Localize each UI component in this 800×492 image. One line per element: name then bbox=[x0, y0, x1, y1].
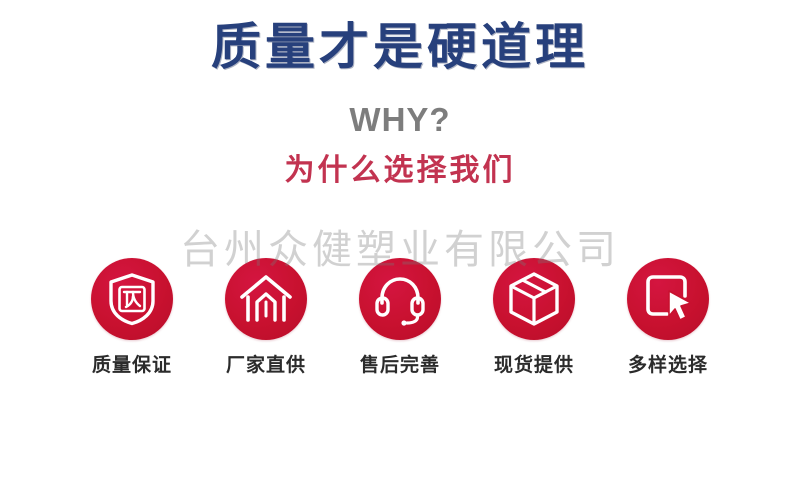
feature-badge bbox=[225, 258, 307, 340]
feature-badge bbox=[627, 258, 709, 340]
feature-label: 现货提供 bbox=[494, 354, 574, 378]
shield-quality-icon bbox=[106, 272, 158, 326]
feature-list: 质量保证 厂家直供 bbox=[0, 258, 800, 378]
feature-badge bbox=[359, 258, 441, 340]
subtitle-chinese: 为什么选择我们 bbox=[0, 152, 800, 190]
feature-label: 多样选择 bbox=[628, 354, 708, 378]
subtitle-english: WHY? bbox=[0, 100, 800, 140]
feature-label: 售后完善 bbox=[360, 354, 440, 378]
feature-badge bbox=[493, 258, 575, 340]
feature-item-quality[interactable]: 质量保证 bbox=[65, 258, 199, 378]
feature-item-stock[interactable]: 现货提供 bbox=[467, 258, 601, 378]
feature-item-aftersales[interactable]: 售后完善 bbox=[333, 258, 467, 378]
feature-badge bbox=[91, 258, 173, 340]
factory-house-icon bbox=[239, 273, 293, 325]
promo-banner: 质量才是硬道理 WHY? 为什么选择我们 台州众健塑业有限公司 质量保证 bbox=[0, 0, 800, 492]
headset-icon bbox=[373, 272, 427, 326]
feature-label: 厂家直供 bbox=[226, 354, 306, 378]
feature-item-factory[interactable]: 厂家直供 bbox=[199, 258, 333, 378]
package-box-icon bbox=[507, 271, 561, 327]
feature-item-variety[interactable]: 多样选择 bbox=[601, 258, 735, 378]
feature-label: 质量保证 bbox=[92, 354, 172, 378]
cursor-select-icon bbox=[641, 272, 695, 326]
page-title: 质量才是硬道理 bbox=[0, 16, 800, 78]
